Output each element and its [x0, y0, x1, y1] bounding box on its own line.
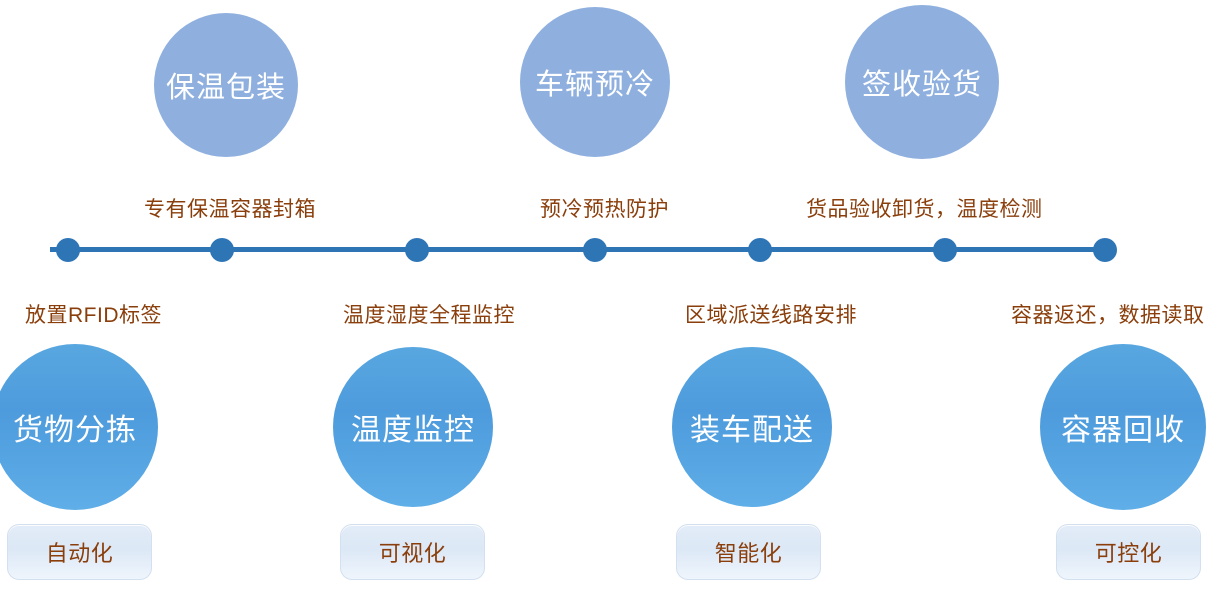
bottom-stage-circle-label: 货物分拣 — [13, 405, 137, 449]
bottom-stage-circle[interactable]: 装车配送 — [672, 347, 832, 507]
top-stage-circle-label: 车辆预冷 — [535, 61, 655, 103]
bottom-stage-circle[interactable]: 货物分拣 — [0, 344, 158, 510]
top-stage-circle[interactable]: 车辆预冷 — [520, 7, 670, 157]
caption-below: 区域派送线路安排 — [685, 299, 857, 329]
tag-box[interactable]: 自动化 — [7, 524, 152, 580]
caption-above: 专有保温容器封箱 — [144, 193, 316, 223]
top-stage-circle-label: 保温包装 — [166, 64, 286, 106]
bottom-stage-circle-label: 容器回收 — [1061, 405, 1185, 449]
caption-above: 货品验收卸货，温度检测 — [806, 193, 1043, 223]
bottom-stage-circle-label: 装车配送 — [690, 405, 814, 449]
timeline-dot[interactable] — [748, 238, 772, 262]
timeline-dot[interactable] — [56, 238, 80, 262]
caption-below: 温度湿度全程监控 — [343, 299, 515, 329]
top-stage-circle-label: 签收验货 — [862, 61, 982, 103]
bottom-stage-circle[interactable]: 容器回收 — [1040, 344, 1206, 510]
bottom-stage-circle[interactable]: 温度监控 — [333, 347, 493, 507]
tag-box-label: 自动化 — [46, 536, 114, 568]
caption-below: 容器返还，数据读取 — [1011, 299, 1205, 329]
top-stage-circle[interactable]: 保温包装 — [154, 13, 298, 157]
timeline-dot[interactable] — [933, 238, 957, 262]
tag-box[interactable]: 可控化 — [1056, 524, 1201, 580]
caption-below: 放置RFID标签 — [25, 299, 162, 329]
bottom-stage-circle-label: 温度监控 — [351, 405, 475, 449]
coldchain-process-diagram: 保温包装车辆预冷签收验货 货物分拣温度监控装车配送容器回收 专有保温容器封箱预冷… — [0, 0, 1208, 589]
timeline-dot[interactable] — [405, 238, 429, 262]
timeline-dot[interactable] — [210, 238, 234, 262]
timeline-dot[interactable] — [1093, 238, 1117, 262]
timeline-dot[interactable] — [583, 238, 607, 262]
tag-box-label: 智能化 — [715, 536, 783, 568]
top-stage-circle[interactable]: 签收验货 — [845, 5, 999, 159]
tag-box-label: 可视化 — [379, 536, 447, 568]
tag-box-label: 可控化 — [1095, 536, 1163, 568]
tag-box[interactable]: 智能化 — [676, 524, 821, 580]
caption-above: 预冷预热防护 — [540, 193, 669, 223]
tag-box[interactable]: 可视化 — [340, 524, 485, 580]
